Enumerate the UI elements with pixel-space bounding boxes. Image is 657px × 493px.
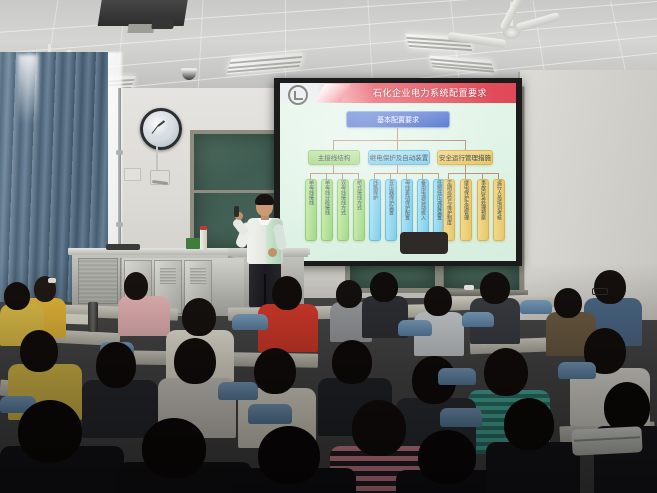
chair-back <box>398 320 432 336</box>
audience-head <box>554 288 582 318</box>
audience-head <box>258 426 320 484</box>
audience-head <box>332 340 372 384</box>
connector <box>397 165 398 173</box>
banner-accent-stripe <box>315 84 351 102</box>
audience-head <box>504 398 554 450</box>
connector <box>333 140 334 150</box>
chair-back <box>440 408 482 427</box>
audience-head <box>424 286 452 316</box>
audience-head <box>142 418 206 478</box>
thermos-flask <box>88 302 98 332</box>
audience-head <box>418 430 476 484</box>
chart-branch-node: 安全运行管理措施 <box>437 150 493 165</box>
chart-leaf-node: 单母线接线 <box>305 179 317 241</box>
slide-banner: 石化企业电力系统配置要求 <box>280 83 516 103</box>
pole-bracket <box>116 150 123 155</box>
chair-back <box>438 368 476 385</box>
audience-head <box>182 298 216 336</box>
chart-branch-node: 主接线结构 <box>308 150 360 165</box>
audience-head <box>370 272 398 302</box>
audience-member <box>232 426 352 493</box>
window-glare <box>18 54 38 124</box>
clock-face <box>146 114 170 138</box>
connector <box>397 140 398 150</box>
audience-member <box>414 286 462 350</box>
pole-bracket <box>116 222 123 227</box>
audience-head <box>124 272 148 300</box>
projector-lens <box>151 18 175 29</box>
connector <box>448 173 498 174</box>
audience-head <box>484 348 528 396</box>
backpack <box>400 232 448 254</box>
microphone <box>234 206 239 217</box>
audience-head <box>96 342 136 388</box>
slide-title: 石化企业电力系统配置要求 <box>350 85 510 101</box>
chart-leaf-node: 双母线接线方式 <box>337 179 349 241</box>
wall-plate <box>124 168 141 181</box>
cabinet-vent <box>190 268 206 284</box>
chart-leaf-node: 继电保护定值管理 <box>460 179 472 241</box>
classroom-photo: 石化企业电力系统配置要求 基本配置要求 主接线结构 继电保护及自动装置 安全运行… <box>0 0 657 493</box>
connector <box>397 128 398 140</box>
audience-member <box>486 398 576 493</box>
audience-head <box>254 348 296 394</box>
water-bottle <box>200 228 207 250</box>
projection-screen: 石化企业电力系统配置要求 基本配置要求 主接线结构 继电保护及自动装置 安全运行… <box>280 83 516 261</box>
chart-leaf-node: 单母线分段接线 <box>321 179 333 241</box>
audience-torso <box>118 296 170 336</box>
audience-head <box>480 272 510 304</box>
audience-head <box>336 280 362 308</box>
audience-head <box>20 330 58 372</box>
chart-leaf-node: 运行人员培训考核 <box>493 179 505 241</box>
connector <box>465 140 466 150</box>
chart-root-node: 基本配置要求 <box>346 111 450 128</box>
podium-panel <box>78 258 118 304</box>
desk-green-box <box>186 238 200 249</box>
audience-head <box>594 270 626 304</box>
eyeglasses <box>592 288 608 295</box>
hair-clip <box>48 278 56 283</box>
presenter-hair <box>255 194 274 205</box>
chair-back <box>462 312 494 327</box>
chair-back <box>248 404 292 424</box>
org-chart: 基本配置要求 主接线结构 继电保护及自动装置 安全运行管理措施 单母线接线 单母… <box>280 103 516 261</box>
audience-head <box>4 282 30 310</box>
audience-head <box>18 400 82 462</box>
chair-back <box>520 300 552 314</box>
chair-back <box>232 314 268 330</box>
desk-remote <box>106 244 140 250</box>
audience-member <box>258 276 316 350</box>
chart-branch-node: 继电保护及自动装置 <box>368 150 430 165</box>
connector <box>465 165 466 173</box>
audience-head <box>272 276 302 310</box>
chart-leaf-node: 桥式接线方式 <box>353 179 365 241</box>
bottle-cap <box>200 226 207 230</box>
chart-leaf-node: 变压器保护装置 <box>385 179 397 241</box>
chart-leaf-node: 事故应急处理预案 <box>477 179 489 241</box>
connector <box>333 140 465 141</box>
audience-head <box>604 382 650 432</box>
chart-leaf-node: 线路保护 <box>369 179 381 241</box>
ceiling-fan-right <box>420 2 570 56</box>
audience-head <box>174 338 216 384</box>
ceiling-projector <box>98 0 189 26</box>
audience-member <box>0 400 120 493</box>
connector <box>310 173 358 174</box>
ceiling-light-panel <box>429 55 494 73</box>
company-roundel-logo <box>288 85 308 105</box>
chair-back <box>218 382 258 400</box>
chair-back <box>558 362 596 379</box>
audience-member <box>118 418 248 493</box>
audience-member <box>118 272 168 334</box>
connector <box>333 165 334 173</box>
audience-member <box>470 272 518 338</box>
presenter-right-hand <box>268 248 277 257</box>
